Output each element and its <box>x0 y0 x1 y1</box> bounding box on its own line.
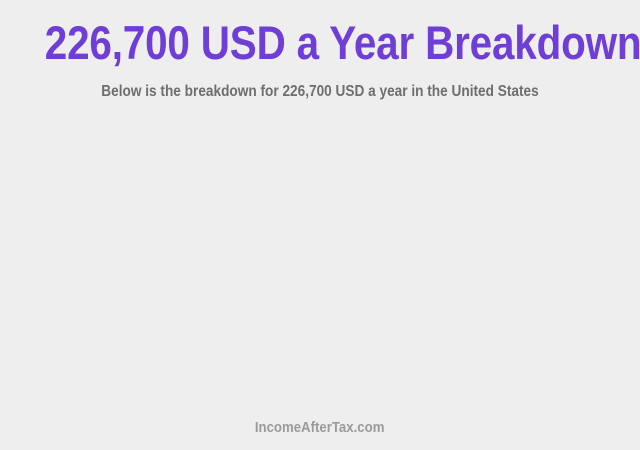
chart-plot-area <box>0 118 640 408</box>
income-breakdown-page: 226,700 USD a Year Breakdown Below is th… <box>0 0 640 450</box>
site-watermark: IncomeAfterTax.com <box>255 419 385 437</box>
page-title: 226,700 USD a Year Breakdown <box>45 17 595 69</box>
page-subtitle: Below is the breakdown for 226,700 USD a… <box>38 83 601 101</box>
page-footer: IncomeAfterTax.com <box>0 419 640 437</box>
